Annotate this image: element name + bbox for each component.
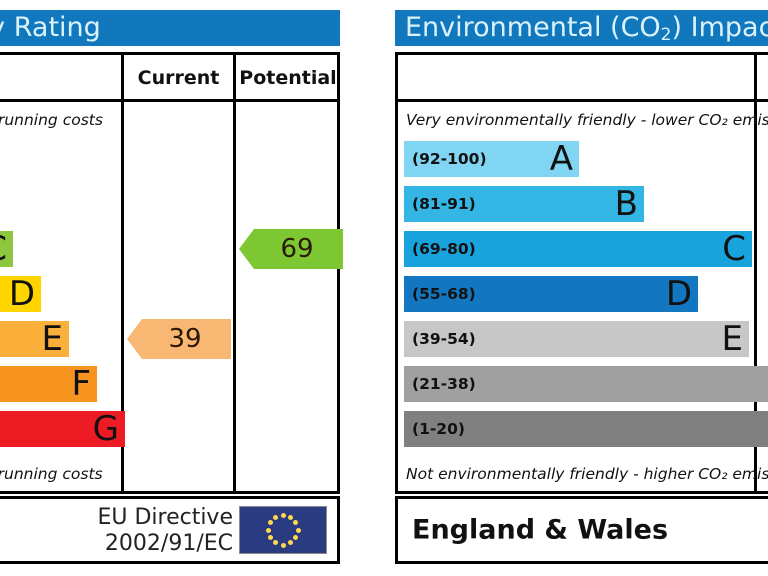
band-letter-d: D (666, 277, 692, 311)
band-e: (39-54)E (0, 321, 69, 357)
band-range-c: (69-80) (412, 231, 476, 267)
eu-flag-star (281, 543, 286, 548)
left-caption-bottom: Not energy efficient - higher running co… (0, 465, 103, 483)
band-c: (69-80)C (0, 231, 13, 267)
eu-flag-star (293, 535, 298, 540)
right-caption-top: Very environmentally friendly - lower CO… (406, 111, 768, 129)
band-range-e: (39-54) (412, 321, 476, 357)
right-panel-title-subscript: 2 (661, 25, 672, 45)
right-footer: England & Wales (395, 496, 768, 564)
energy-efficiency-rating-panel: Energy Efficiency Rating Current Potenti… (0, 0, 384, 576)
potential-rating-arrow-value: 69 (280, 234, 313, 264)
left-panel-title: Energy Efficiency Rating (0, 10, 340, 46)
environmental-co2-impact-panel: Environmental (CO2) Impact Rating Curren… (384, 0, 768, 576)
left-column-divider-potential (233, 55, 236, 491)
band-e: (39-54)E (404, 321, 749, 357)
band-range-b: (81-91) (412, 186, 476, 222)
band-d: (55-68)D (0, 276, 41, 312)
eu-flag-star (296, 528, 301, 533)
band-f: (21-38)F (0, 366, 97, 402)
band-a: (92-100)A (404, 141, 579, 177)
eu-directive-text: EU Directive 2002/91/EC (97, 505, 233, 557)
eu-directive-line2: 2002/91/EC (97, 531, 233, 557)
band-letter-d: D (9, 277, 35, 311)
band-d: (55-68)D (404, 276, 698, 312)
band-letter-g: G (93, 412, 119, 446)
right-header-row (398, 55, 768, 102)
right-rating-chart: Current Potential Very environmentally f… (395, 52, 768, 494)
eu-directive-line1: EU Directive (97, 505, 233, 531)
right-panel-title-main: Environmental (CO (405, 12, 661, 43)
eu-flag-star (293, 520, 298, 525)
band-c: (69-80)C (404, 231, 752, 267)
band-letter-b: B (615, 187, 638, 221)
band-letter-c: C (0, 232, 7, 266)
eu-flag-star (288, 515, 293, 520)
band-letter-a: A (550, 142, 573, 176)
band-letter-f: F (71, 367, 91, 401)
potential-rating-arrow: 69 (239, 229, 343, 269)
eu-flag-star (268, 535, 273, 540)
left-footer: EU Directive 2002/91/EC (0, 496, 340, 564)
band-g: (1-20)G (404, 411, 768, 447)
eu-flag-star (288, 540, 293, 545)
left-rating-chart: Current Potential Very energy efficient … (0, 52, 340, 494)
band-range-d: (55-68) (412, 276, 476, 312)
band-letter-e: E (722, 322, 743, 356)
eu-flag-star (273, 540, 278, 545)
band-range-f: (21-38) (412, 366, 476, 402)
right-panel-title-tail: ) Impact Rating (672, 12, 768, 43)
band-b: (81-91)B (404, 186, 644, 222)
band-range-a: (92-100) (412, 141, 487, 177)
eu-flag-star (266, 528, 271, 533)
left-column-header-potential: Potential (236, 55, 340, 102)
right-column-header-current: Current (757, 55, 768, 102)
current-rating-arrow: 39 (127, 319, 231, 359)
band-range-g: (1-20) (412, 411, 465, 447)
band-letter-e: E (42, 322, 63, 356)
eu-flag-icon (239, 506, 327, 554)
eu-flag-star (268, 520, 273, 525)
eu-flag-star (273, 515, 278, 520)
band-g: (1-20)G (0, 411, 125, 447)
right-panel-title: Environmental (CO2) Impact Rating (395, 10, 768, 46)
left-column-header-current: Current (124, 55, 233, 102)
region-label: England & Wales (412, 515, 668, 546)
eu-flag-star (281, 513, 286, 518)
current-rating-arrow-value: 39 (168, 324, 201, 354)
band-letter-c: C (722, 232, 746, 266)
right-caption-bottom: Not environmentally friendly - higher CO… (406, 465, 768, 483)
band-f: (21-38)F (404, 366, 768, 402)
left-caption-top: Very energy efficient - lower running co… (0, 111, 103, 129)
